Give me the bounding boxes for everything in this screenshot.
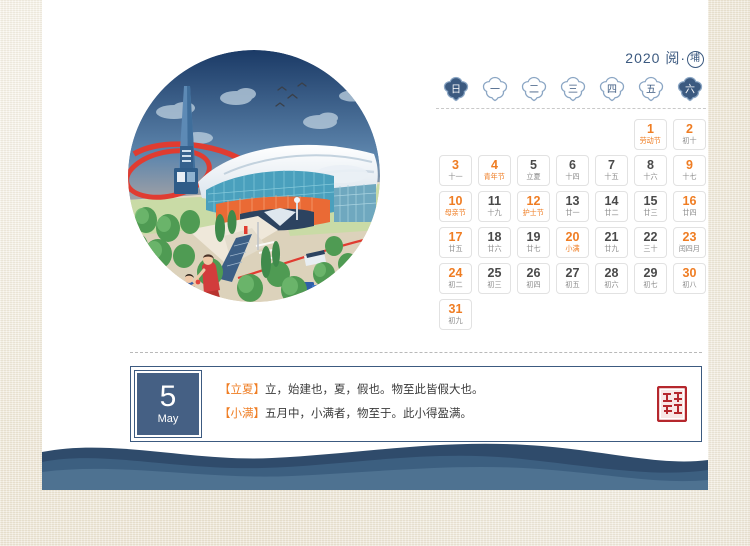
date-cell-22[interactable]: 22三十 xyxy=(634,227,667,258)
flower-badge-icon: 二 xyxy=(521,76,547,102)
date-sublabel: 初六 xyxy=(604,280,618,290)
date-sublabel: 闰四月 xyxy=(679,244,700,254)
date-cell-17[interactable]: 17廿五 xyxy=(439,227,472,258)
date-number: 9 xyxy=(686,159,693,172)
date-number: 28 xyxy=(605,267,619,280)
date-number: 27 xyxy=(566,267,580,280)
date-number: 13 xyxy=(566,195,580,208)
svg-text:四: 四 xyxy=(607,85,617,96)
date-number: 15 xyxy=(644,195,658,208)
date-sublabel: 廿二 xyxy=(604,208,618,218)
date-number: 31 xyxy=(449,303,463,316)
date-sublabel: 立夏 xyxy=(526,172,540,182)
date-number: 30 xyxy=(683,267,697,280)
illustration-container xyxy=(128,50,380,302)
weekday-badge-4: 四 xyxy=(592,74,631,104)
date-cell-empty xyxy=(517,119,550,150)
date-number: 3 xyxy=(452,159,459,172)
date-sublabel: 初四 xyxy=(526,280,540,290)
date-sublabel: 青年节 xyxy=(484,172,505,182)
date-number: 18 xyxy=(488,231,502,244)
seal-icon xyxy=(657,386,687,422)
date-cell-20[interactable]: 20小满 xyxy=(556,227,589,258)
weekday-badge-5: 五 xyxy=(631,74,670,104)
date-sublabel: 三十 xyxy=(643,244,657,254)
calendar-panel: 2020 阅·埔 日一二三四五六 1劳动节2初十3十一4青年节5立夏6十四7十五… xyxy=(434,48,708,332)
date-sublabel: 初九 xyxy=(448,316,462,326)
date-number: 5 xyxy=(530,159,537,172)
svg-text:一: 一 xyxy=(490,85,500,96)
note-line-2: 【小满】五月中，小满者，物至于。此小得盈满。 xyxy=(219,402,643,426)
date-cell-2[interactable]: 2初十 xyxy=(673,119,706,150)
term-lixia: 【立夏】 xyxy=(219,384,265,396)
date-cell-12[interactable]: 12护士节 xyxy=(517,191,550,222)
calendar-card: 2020 阅·埔 日一二三四五六 1劳动节2初十3十一4青年节5立夏6十四7十五… xyxy=(42,0,708,490)
date-number: 12 xyxy=(527,195,541,208)
weekday-header-row: 日一二三四五六 xyxy=(434,74,708,104)
date-cell-24[interactable]: 24初二 xyxy=(439,263,472,294)
date-sublabel: 廿四 xyxy=(682,208,696,218)
weekday-badge-1: 一 xyxy=(475,74,514,104)
note-text-block: 【立夏】立，始建也，夏，假也。物至此皆假大也。 【小满】五月中，小满者，物至于。… xyxy=(205,367,643,441)
term-lixia-desc: 立，始建也，夏，假也。物至此皆假大也。 xyxy=(265,384,484,396)
date-number: 1 xyxy=(647,123,654,136)
flower-badge-icon: 三 xyxy=(560,76,586,102)
term-xiaoman-desc: 五月中，小满者，物至于。此小得盈满。 xyxy=(265,408,472,420)
calendar-year: 2020 xyxy=(625,50,660,66)
date-sublabel: 廿七 xyxy=(526,244,540,254)
date-sublabel: 十四 xyxy=(565,172,579,182)
date-cell-9[interactable]: 9十七 xyxy=(673,155,706,186)
weekday-divider xyxy=(436,108,708,109)
date-cell-empty xyxy=(439,119,472,150)
svg-text:日: 日 xyxy=(451,85,461,96)
note-separator xyxy=(130,352,702,353)
date-cell-31[interactable]: 31初九 xyxy=(439,299,472,330)
date-number: 11 xyxy=(488,195,501,208)
date-number: 2 xyxy=(686,123,693,136)
date-number: 14 xyxy=(605,195,619,208)
flower-badge-icon: 五 xyxy=(638,76,664,102)
date-cell-27[interactable]: 27初五 xyxy=(556,263,589,294)
solar-term-note: 5 May 【立夏】立，始建也，夏，假也。物至此皆假大也。 【小满】五月中，小满… xyxy=(130,366,702,442)
date-cell-6[interactable]: 6十四 xyxy=(556,155,589,186)
date-number: 6 xyxy=(569,159,576,172)
date-cell-7[interactable]: 7十五 xyxy=(595,155,628,186)
month-badge: 5 May xyxy=(135,371,201,437)
red-seal-stamp xyxy=(643,367,701,441)
date-number: 7 xyxy=(608,159,615,172)
calendar-title: 2020 阅·埔 xyxy=(434,48,708,68)
date-cell-13[interactable]: 13廿一 xyxy=(556,191,589,222)
date-number: 22 xyxy=(644,231,658,244)
weekday-badge-2: 二 xyxy=(514,74,553,104)
date-sublabel: 小满 xyxy=(565,244,579,254)
date-number: 17 xyxy=(449,231,463,244)
brand-circled-char: 埔 xyxy=(687,51,704,68)
flower-badge-icon: 一 xyxy=(482,76,508,102)
date-cell-23[interactable]: 23闰四月 xyxy=(673,227,706,258)
svg-text:五: 五 xyxy=(646,85,656,96)
month-number: 5 xyxy=(160,382,177,412)
date-number: 23 xyxy=(683,231,697,244)
date-cell-5[interactable]: 5立夏 xyxy=(517,155,550,186)
date-number: 21 xyxy=(605,231,619,244)
date-number: 25 xyxy=(488,267,502,280)
flower-badge-icon: 四 xyxy=(599,76,625,102)
date-number: 4 xyxy=(491,159,498,172)
note-line-1: 【立夏】立，始建也，夏，假也。物至此皆假大也。 xyxy=(219,378,643,402)
date-sublabel: 十五 xyxy=(604,172,618,182)
date-cell-21[interactable]: 21廿九 xyxy=(595,227,628,258)
date-number: 26 xyxy=(527,267,541,280)
weekday-badge-6: 六 xyxy=(670,74,708,104)
date-sublabel: 初二 xyxy=(448,280,462,290)
illustration-svg xyxy=(128,50,380,302)
weekday-badge-3: 三 xyxy=(553,74,592,104)
svg-text:二: 二 xyxy=(529,85,539,96)
flower-badge-icon: 日 xyxy=(443,76,469,102)
date-sublabel: 廿一 xyxy=(565,208,579,218)
date-number: 20 xyxy=(566,231,580,244)
date-number: 8 xyxy=(647,159,654,172)
date-cell-30[interactable]: 30初八 xyxy=(673,263,706,294)
date-cell-1[interactable]: 1劳动节 xyxy=(634,119,667,150)
date-sublabel: 护士节 xyxy=(523,208,544,218)
date-sublabel: 初五 xyxy=(565,280,579,290)
date-cell-empty xyxy=(595,119,628,150)
date-cell-15[interactable]: 15廿三 xyxy=(634,191,667,222)
date-number: 16 xyxy=(683,195,697,208)
date-cell-empty xyxy=(556,119,589,150)
date-sublabel: 廿六 xyxy=(487,244,501,254)
wave-decoration xyxy=(42,436,708,490)
date-sublabel: 初八 xyxy=(682,280,696,290)
date-sublabel: 十一 xyxy=(448,172,462,182)
date-cell-3[interactable]: 3十一 xyxy=(439,155,472,186)
date-grid: 1劳动节2初十3十一4青年节5立夏6十四7十五8十六9十七10母亲节11十九12… xyxy=(434,116,708,332)
date-cell-16[interactable]: 16廿四 xyxy=(673,191,706,222)
date-sublabel: 初七 xyxy=(643,280,657,290)
date-cell-29[interactable]: 29初七 xyxy=(634,263,667,294)
city-illustration xyxy=(128,50,380,302)
weekday-badge-0: 日 xyxy=(436,74,475,104)
date-cell-19[interactable]: 19廿七 xyxy=(517,227,550,258)
date-cell-8[interactable]: 8十六 xyxy=(634,155,667,186)
brand-text: 阅· xyxy=(665,50,686,66)
date-sublabel: 母亲节 xyxy=(445,208,466,218)
date-cell-26[interactable]: 26初四 xyxy=(517,263,550,294)
month-name: May xyxy=(158,412,179,426)
svg-text:三: 三 xyxy=(568,85,578,96)
date-number: 10 xyxy=(449,195,463,208)
date-number: 24 xyxy=(449,267,463,280)
date-sublabel: 廿九 xyxy=(604,244,618,254)
date-cell-18[interactable]: 18廿六 xyxy=(478,227,511,258)
date-sublabel: 十七 xyxy=(682,172,696,182)
date-cell-14[interactable]: 14廿二 xyxy=(595,191,628,222)
date-sublabel: 十九 xyxy=(487,208,501,218)
date-sublabel: 十六 xyxy=(643,172,657,182)
date-sublabel: 廿五 xyxy=(448,244,462,254)
date-cell-28[interactable]: 28初六 xyxy=(595,263,628,294)
term-xiaoman: 【小满】 xyxy=(219,408,265,420)
flower-badge-icon: 六 xyxy=(677,76,703,102)
date-cell-11[interactable]: 11十九 xyxy=(478,191,511,222)
date-cell-10[interactable]: 10母亲节 xyxy=(439,191,472,222)
svg-text:六: 六 xyxy=(685,84,695,96)
date-cell-empty xyxy=(478,119,511,150)
date-sublabel: 廿三 xyxy=(643,208,657,218)
date-sublabel: 劳动节 xyxy=(640,136,661,146)
date-sublabel: 初十 xyxy=(682,136,696,146)
date-number: 29 xyxy=(644,267,658,280)
date-number: 19 xyxy=(527,231,541,244)
date-cell-4[interactable]: 4青年节 xyxy=(478,155,511,186)
date-cell-25[interactable]: 25初三 xyxy=(478,263,511,294)
date-sublabel: 初三 xyxy=(487,280,501,290)
